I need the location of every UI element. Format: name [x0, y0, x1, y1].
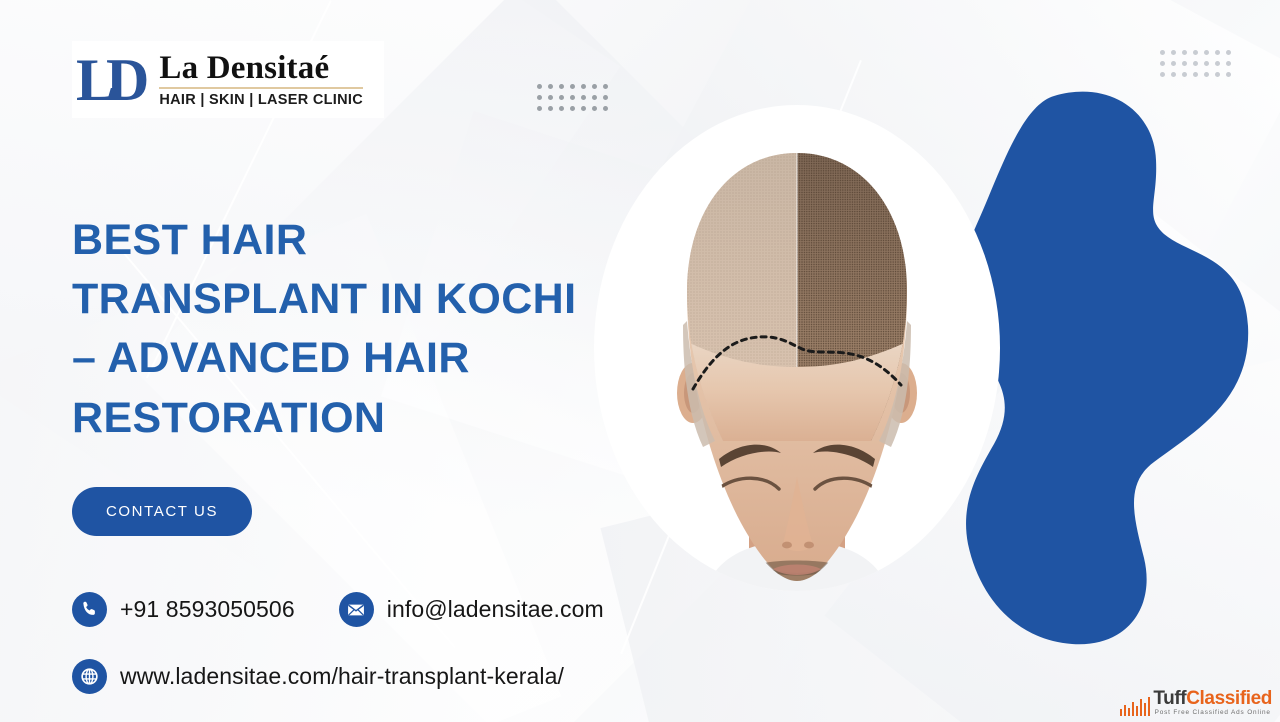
website-url: www.ladensitae.com/hair-transplant-keral…: [120, 663, 564, 690]
contact-us-button[interactable]: CONTACT US: [72, 487, 252, 536]
decoration-dot: [1171, 72, 1176, 77]
decoration-dot: [537, 84, 542, 89]
decoration-dot: [570, 84, 575, 89]
watermark-bar: [1128, 708, 1131, 716]
decoration-dot: [570, 106, 575, 111]
decoration-dot: [1226, 61, 1231, 66]
decoration-dot: [1215, 61, 1220, 66]
decoration-dot: [1171, 61, 1176, 66]
hair-transplant-photo: [657, 141, 937, 591]
decoration-dot: [581, 84, 586, 89]
dot-grid-decoration-center: [537, 84, 608, 111]
decoration-dot: [1160, 61, 1165, 66]
decoration-dot: [1204, 61, 1209, 66]
contact-phone[interactable]: +91 8593050506: [72, 592, 295, 627]
decoration-dot: [548, 84, 553, 89]
decoration-dot: [548, 106, 553, 111]
watermark-name-part-1: Tuff: [1153, 688, 1186, 709]
watermark-bar: [1120, 709, 1123, 716]
decoration-dot: [1226, 72, 1231, 77]
email-address: info@ladensitae.com: [387, 596, 604, 623]
decoration-dot: [559, 95, 564, 100]
contact-email[interactable]: info@ladensitae.com: [339, 592, 604, 627]
brand-logo[interactable]: LD La Densitaé HAIR | SKIN | LASER CLINI…: [72, 41, 384, 118]
phone-number: +91 8593050506: [120, 596, 295, 623]
watermark-bar: [1140, 699, 1143, 716]
contact-row-primary: +91 8593050506 info@ladensitae.com: [72, 592, 604, 627]
hero-photo-circle: [594, 105, 1000, 591]
globe-icon: [72, 659, 107, 694]
contact-website[interactable]: www.ladensitae.com/hair-transplant-keral…: [72, 659, 564, 694]
decoration-dot: [1182, 61, 1187, 66]
decoration-dot: [1160, 72, 1165, 77]
watermark-tagline: Post Free Classified Ads Online: [1153, 710, 1272, 716]
watermark-bar: [1136, 706, 1139, 716]
decoration-dot: [603, 95, 608, 100]
decoration-dot: [581, 106, 586, 111]
decoration-dot: [1204, 50, 1209, 55]
dot-grid-decoration-right: [1160, 50, 1231, 77]
decoration-dot: [1193, 61, 1198, 66]
watermark-bar: [1148, 697, 1151, 716]
phone-icon: [72, 592, 107, 627]
decoration-dot: [1182, 50, 1187, 55]
promo-banner: LD La Densitaé HAIR | SKIN | LASER CLINI…: [0, 0, 1280, 722]
decoration-dot: [1193, 50, 1198, 55]
decoration-dot: [603, 84, 608, 89]
bar-chart-icon: [1120, 697, 1151, 716]
decoration-dot: [1182, 72, 1187, 77]
decoration-dot: [1226, 50, 1231, 55]
envelope-icon: [339, 592, 374, 627]
brand-name: La Densitaé: [159, 51, 363, 86]
decoration-dot: [537, 106, 542, 111]
decoration-dot: [592, 106, 597, 111]
decoration-dot: [1215, 72, 1220, 77]
watermark-bar: [1124, 705, 1127, 716]
decoration-dot: [1160, 50, 1165, 55]
decoration-dot: [537, 95, 542, 100]
watermark-name: TuffClassified: [1153, 689, 1272, 708]
decoration-dot: [1171, 50, 1176, 55]
decoration-dot: [559, 106, 564, 111]
decoration-dot: [1215, 50, 1220, 55]
watermark-tuffclassified: TuffClassified Post Free Classified Ads …: [1120, 689, 1272, 716]
decoration-dot: [559, 84, 564, 89]
watermark-bar: [1132, 702, 1135, 716]
decoration-dot: [548, 95, 553, 100]
decoration-dot: [592, 95, 597, 100]
decoration-dot: [1193, 72, 1198, 77]
blue-blob-shape: [958, 88, 1250, 648]
watermark-name-part-2: Classified: [1186, 688, 1272, 709]
page-title: BEST HAIR TRANSPLANT IN KOCHI – ADVANCED…: [72, 211, 592, 448]
decoration-dot: [570, 95, 575, 100]
brand-tagline: HAIR | SKIN | LASER CLINIC: [159, 92, 363, 108]
watermark-bar: [1144, 703, 1147, 716]
decoration-dot: [592, 84, 597, 89]
decoration-dot: [1204, 72, 1209, 77]
contact-row-website: www.ladensitae.com/hair-transplant-keral…: [72, 659, 564, 694]
decoration-dot: [603, 106, 608, 111]
logo-divider-rule: [159, 87, 363, 89]
logo-wordmark: La Densitaé HAIR | SKIN | LASER CLINIC: [159, 51, 363, 109]
watermark-text: TuffClassified Post Free Classified Ads …: [1153, 689, 1272, 716]
decoration-dot: [581, 95, 586, 100]
logo-monogram: LD: [76, 50, 149, 110]
